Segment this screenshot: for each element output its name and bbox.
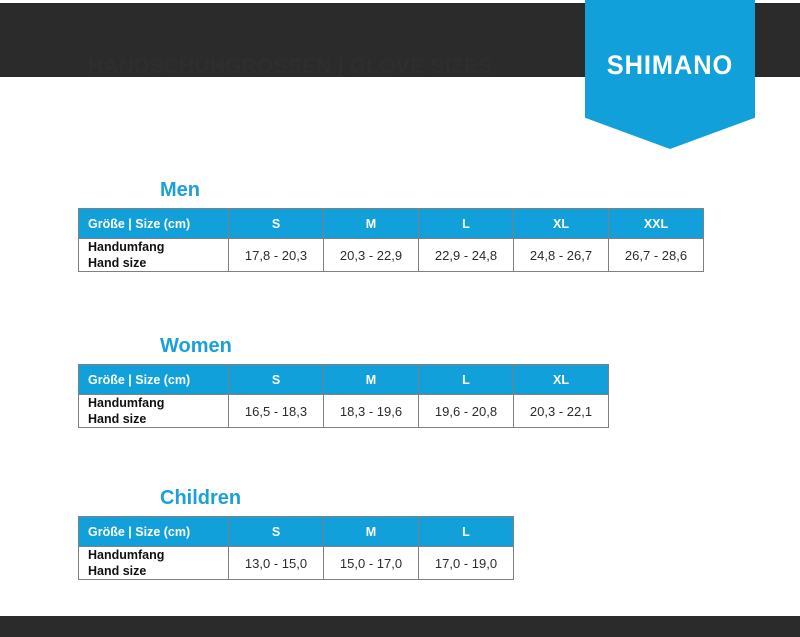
table-row: Handumfang Hand size 17,8 - 20,3 20,3 - … <box>79 239 704 272</box>
shimano-wordmark: SHIMANO <box>590 50 750 81</box>
column-header-size-s: S <box>229 209 324 239</box>
cell-value-l: 17,0 - 19,0 <box>419 547 514 580</box>
table-header-row: Größe | Size (cm) S M L XL <box>79 365 609 395</box>
cell-value-l: 22,9 - 24,8 <box>419 239 514 272</box>
cell-value-m: 20,3 - 22,9 <box>324 239 419 272</box>
row-label-line-de: Handumfang <box>88 239 228 255</box>
size-table-children: Größe | Size (cm) S M L Handumfang Hand … <box>78 516 514 580</box>
size-table-men: Größe | Size (cm) S M L XL XXL Handumfan… <box>78 208 704 272</box>
column-header-size-s: S <box>229 365 324 395</box>
row-label-line-de: Handumfang <box>88 395 228 411</box>
size-table-women: Größe | Size (cm) S M L XL Handumfang Ha… <box>78 364 609 428</box>
cell-value-s: 13,0 - 15,0 <box>229 547 324 580</box>
cell-value-s: 16,5 - 18,3 <box>229 395 324 428</box>
column-header-size-l: L <box>419 209 514 239</box>
cell-value-m: 15,0 - 17,0 <box>324 547 419 580</box>
table-header-row: Größe | Size (cm) S M L XL XXL <box>79 209 704 239</box>
column-header-label: Größe | Size (cm) <box>79 209 229 239</box>
table-row: Handumfang Hand size 16,5 - 18,3 18,3 - … <box>79 395 609 428</box>
section-children: Children Größe | Size (cm) S M L Handumf… <box>78 486 514 580</box>
column-header-size-m: M <box>324 209 419 239</box>
cell-value-xxl: 26,7 - 28,6 <box>609 239 704 272</box>
row-label-line-en: Hand size <box>88 563 228 579</box>
row-label-line-en: Hand size <box>88 255 228 271</box>
section-title-women: Women <box>78 334 609 358</box>
column-header-size-l: L <box>419 365 514 395</box>
column-header-size-m: M <box>324 517 419 547</box>
shimano-logo-ribbon: SHIMANO <box>585 0 755 149</box>
row-label-line-de: Handumfang <box>88 547 228 563</box>
cell-value-s: 17,8 - 20,3 <box>229 239 324 272</box>
column-header-label: Größe | Size (cm) <box>79 517 229 547</box>
table-header-row: Größe | Size (cm) S M L <box>79 517 514 547</box>
column-header-size-l: L <box>419 517 514 547</box>
cell-value-xl: 24,8 - 26,7 <box>514 239 609 272</box>
cell-value-m: 18,3 - 19,6 <box>324 395 419 428</box>
cell-value-l: 19,6 - 20,8 <box>419 395 514 428</box>
column-header-label: Größe | Size (cm) <box>79 365 229 395</box>
page-root: HANDSCHUHGRÖSSEN | GLOVE SIZES SHIMANO M… <box>0 0 800 637</box>
section-title-men: Men <box>78 178 704 202</box>
row-label-line-en: Hand size <box>88 411 228 427</box>
page-title: HANDSCHUHGRÖSSEN | GLOVE SIZES <box>88 55 492 77</box>
section-men: Men Größe | Size (cm) S M L XL XXL <box>78 178 704 272</box>
footer-band <box>0 616 800 637</box>
row-label-hand-size: Handumfang Hand size <box>79 547 229 580</box>
table-row: Handumfang Hand size 13,0 - 15,0 15,0 - … <box>79 547 514 580</box>
column-header-size-m: M <box>324 365 419 395</box>
row-label-hand-size: Handumfang Hand size <box>79 239 229 272</box>
cell-value-xl: 20,3 - 22,1 <box>514 395 609 428</box>
section-title-children: Children <box>78 486 514 510</box>
section-women: Women Größe | Size (cm) S M L XL Handumf… <box>78 334 609 428</box>
row-label-hand-size: Handumfang Hand size <box>79 395 229 428</box>
column-header-size-s: S <box>229 517 324 547</box>
column-header-size-xxl: XXL <box>609 209 704 239</box>
column-header-size-xl: XL <box>514 365 609 395</box>
column-header-size-xl: XL <box>514 209 609 239</box>
